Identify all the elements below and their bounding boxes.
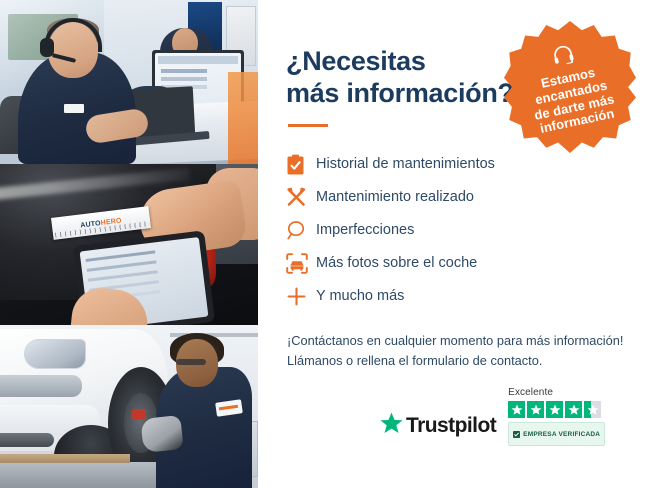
star-5-partial <box>584 401 601 418</box>
verified-company-badge: EMPRESA VERIFICADA <box>508 422 605 446</box>
feature-label: Mantenimiento realizado <box>316 190 474 205</box>
rating-label: Excelente <box>508 387 605 398</box>
feature-item-maintenance-done[interactable]: Mantenimiento realizado <box>286 182 628 214</box>
feature-item-maintenance-history[interactable]: Historial de mantenimientos <box>286 149 628 181</box>
feature-label: Y mucho más <box>316 289 404 304</box>
feature-item-much-more[interactable]: Y mucho más <box>286 281 628 313</box>
workshop-wheel-check-photo <box>0 325 258 488</box>
trustpilot-wordmark: Trustpilot <box>406 414 496 438</box>
car-inspection-ruler-photo: AUTOHERO <box>0 164 258 325</box>
badge-inner: Estamos encantados de darte más informac… <box>492 9 649 166</box>
feature-label: Más fotos sobre el coche <box>316 256 477 271</box>
star-rating <box>508 401 605 418</box>
autohero-ruler-logo: AUTOHERO <box>80 217 122 229</box>
contact-line-1: ¡Contáctanos en cualquier momento para m… <box>287 331 628 352</box>
hand-tool <box>132 409 146 419</box>
star-4 <box>565 401 582 418</box>
car-scan-icon <box>286 253 316 274</box>
headset-icon <box>550 43 577 72</box>
plus-icon <box>286 286 316 307</box>
clipboard-check-icon <box>286 154 316 176</box>
contact-paragraph: ¡Contáctanos en cualquier momento para m… <box>287 331 628 372</box>
trustpilot-logo[interactable]: Trustpilot <box>380 412 496 446</box>
mechanic-glove <box>140 415 183 453</box>
car-grille <box>0 375 82 397</box>
call-center-agents-photo <box>0 0 258 164</box>
badge-text: Estamos encantados de darte más informac… <box>514 60 632 140</box>
information-request-banner: AUTOHERO <box>0 0 650 488</box>
car-lower-intake <box>0 433 54 447</box>
magnifier-icon <box>286 220 316 241</box>
feature-label: Historial de mantenimientos <box>316 157 495 172</box>
verified-check-icon <box>513 425 520 443</box>
tools-cross-icon <box>286 187 316 208</box>
star-1 <box>508 401 525 418</box>
feature-item-more-photos[interactable]: Más fotos sobre el coche <box>286 248 628 280</box>
vehicle-lift-ramp <box>0 462 168 488</box>
trustpilot-widget[interactable]: Trustpilot Excelente <box>380 387 605 446</box>
agent-name-badge <box>64 104 84 113</box>
content-panel: ¿Necesitas más información? Estamos enca… <box>258 0 650 488</box>
car-headlight <box>24 339 86 369</box>
trustpilot-rating: Excelente <box>508 387 605 446</box>
trustpilot-star-icon <box>380 412 403 439</box>
support-promise-badge: Estamos encantados de darte más informac… <box>504 21 636 153</box>
verified-label: EMPRESA VERIFICADA <box>523 431 600 438</box>
contact-line-2: Llámanos o rellena el formulario de cont… <box>287 351 628 372</box>
safety-glasses-icon <box>176 359 206 365</box>
orange-equipment <box>228 72 258 164</box>
feature-list: Historial de mantenimientos Mantenimient… <box>286 149 628 313</box>
photo-column: AUTOHERO <box>0 0 258 488</box>
ruler-logo-hero: HERO <box>100 217 122 227</box>
star-3 <box>546 401 563 418</box>
star-2 <box>527 401 544 418</box>
page-title: ¿Necesitas más información? <box>286 46 521 110</box>
feature-label: Imperfecciones <box>316 223 414 238</box>
ruler-logo-auto: AUTO <box>80 220 101 229</box>
page-title-line-1: ¿Necesitas <box>286 46 521 78</box>
page-title-line-2: más información? <box>286 78 521 110</box>
feature-item-imperfections[interactable]: Imperfecciones <box>286 215 628 247</box>
title-accent-rule <box>288 124 328 127</box>
